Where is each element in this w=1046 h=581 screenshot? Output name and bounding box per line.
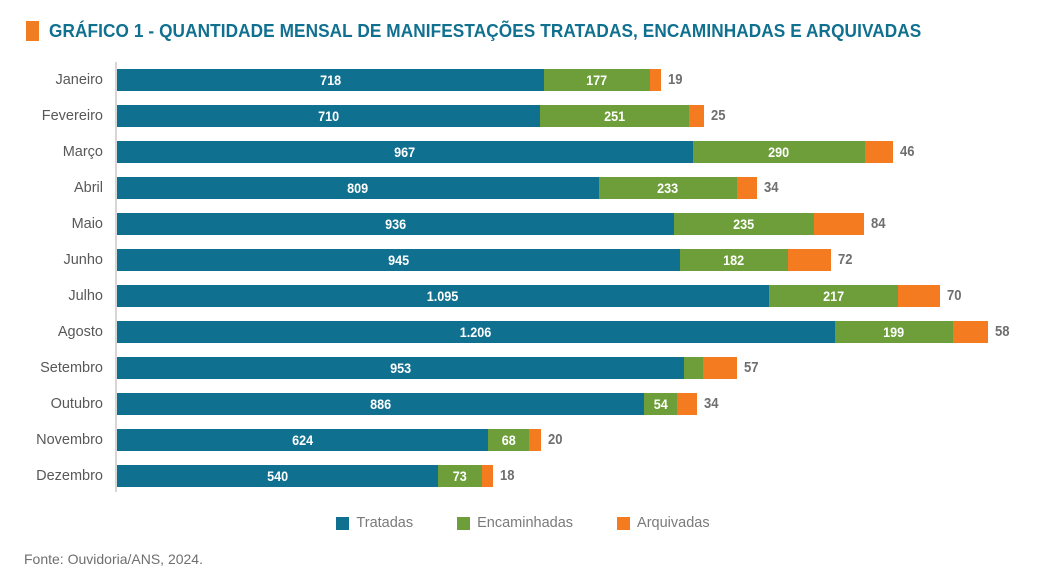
bar-total-label: 34 [704, 397, 719, 412]
legend-swatch-icon [336, 517, 349, 530]
stacked-bar: 96729046 [117, 141, 916, 163]
bar-segment-arquivadas [788, 249, 831, 271]
legend-item[interactable]: Tratadas [336, 515, 413, 531]
bar-chart: Janeiro71817719Fevereiro71025125Março967… [0, 62, 1046, 494]
stacked-bar: 94518272 [117, 249, 854, 271]
chart-title: GRÁFICO 1 - QUANTIDADE MENSAL DE MANIFES… [26, 20, 987, 42]
bar-value-label: 54 [653, 397, 667, 411]
stacked-bar: 93623584 [117, 213, 887, 235]
page-title: GRÁFICO 1 - QUANTIDADE MENSAL DE MANIFES… [49, 20, 921, 42]
bar-value-label: 251 [604, 109, 625, 123]
bar-segment-tratadas: 936 [117, 213, 674, 235]
category-label: Junho [0, 252, 103, 268]
source-note: Fonte: Ouvidoria/ANS, 2024. [24, 551, 203, 567]
bar-value-label: 967 [394, 145, 415, 159]
chart-row: Julho1.09521770 [0, 278, 1046, 314]
legend-swatch-icon [617, 517, 630, 530]
bar-total-label: 25 [711, 109, 726, 124]
category-label: Março [0, 144, 103, 160]
category-label: Dezembro [0, 468, 103, 484]
legend-item[interactable]: Encaminhadas [457, 515, 573, 531]
bar-segment-arquivadas [703, 357, 737, 379]
bar-value-label: 177 [587, 73, 608, 87]
bar-value-label: 217 [823, 289, 844, 303]
bar-segment-encaminhadas: 233 [599, 177, 738, 199]
bar-total-label: 34 [764, 181, 779, 196]
bar-segment-encaminhadas: 235 [674, 213, 814, 235]
bar-segment-tratadas: 540 [117, 465, 438, 487]
bar-segment-tratadas: 953 [117, 357, 684, 379]
bar-segment-arquivadas [529, 429, 541, 451]
bar-segment-arquivadas [865, 141, 892, 163]
category-label: Agosto [0, 324, 103, 340]
bar-value-label: 540 [267, 469, 288, 483]
bar-value-label: 1.095 [427, 289, 459, 303]
bar-total-label: 72 [838, 253, 853, 268]
legend-label: Arquivadas [637, 515, 710, 531]
chart-legend: TratadasEncaminhadasArquivadas [0, 515, 1046, 531]
bar-value-label: 182 [723, 253, 744, 267]
bar-value-label: 235 [734, 217, 755, 231]
bar-segment-encaminhadas: 54 [644, 393, 676, 415]
bar-segment-arquivadas [689, 105, 704, 127]
stacked-bar: 80923334 [117, 177, 781, 199]
chart-row: Agosto1.20619958 [0, 314, 1046, 350]
bar-total-label: 18 [500, 469, 515, 484]
bar-segment-arquivadas [953, 321, 988, 343]
bar-segment-tratadas: 967 [117, 141, 693, 163]
bar-total-label: 58 [995, 325, 1010, 340]
chart-row: Novembro6246820 [0, 422, 1046, 458]
bar-value-label: 953 [390, 361, 411, 375]
bar-segment-tratadas: 624 [117, 429, 488, 451]
bar-segment-tratadas: 1.206 [117, 321, 835, 343]
bar-segment-tratadas: 809 [117, 177, 599, 199]
bar-segment-arquivadas [737, 177, 757, 199]
bar-segment-encaminhadas: 217 [769, 285, 898, 307]
stacked-bar: 71817719 [117, 69, 684, 91]
bar-segment-tratadas: 945 [117, 249, 680, 271]
bar-value-label: 68 [502, 433, 516, 447]
chart-row: Janeiro71817719 [0, 62, 1046, 98]
bar-segment-encaminhadas: 199 [835, 321, 953, 343]
chart-row: Maio93623584 [0, 206, 1046, 242]
stacked-bar: 5407318 [117, 465, 516, 487]
bar-segment-tratadas: 886 [117, 393, 644, 415]
bar-value-label: 945 [388, 253, 409, 267]
bar-segment-encaminhadas: 73 [438, 465, 481, 487]
category-label: Setembro [0, 360, 103, 376]
bar-value-label: 936 [385, 217, 406, 231]
bar-segment-arquivadas [677, 393, 697, 415]
bar-segment-arquivadas [814, 213, 864, 235]
stacked-bar: 71025125 [117, 105, 727, 127]
stacked-bar: 8865434 [117, 393, 720, 415]
chart-rows: Janeiro71817719Fevereiro71025125Março967… [0, 62, 1046, 494]
chart-row: Junho94518272 [0, 242, 1046, 278]
bar-value-label: 290 [768, 145, 789, 159]
bar-total-label: 46 [900, 145, 915, 160]
bar-value-label: 233 [657, 181, 678, 195]
bar-value-label: 1.206 [460, 325, 492, 339]
bar-value-label: 718 [320, 73, 341, 87]
legend-item[interactable]: Arquivadas [617, 515, 710, 531]
category-label: Maio [0, 216, 103, 232]
bar-segment-encaminhadas: 182 [680, 249, 788, 271]
title-marker-icon [26, 21, 39, 41]
bar-segment-arquivadas [650, 69, 661, 91]
bar-segment-encaminhadas: 68 [488, 429, 528, 451]
bar-total-label: 84 [871, 217, 886, 232]
category-label: Novembro [0, 432, 103, 448]
category-label: Janeiro [0, 72, 103, 88]
bar-value-label: 710 [318, 109, 339, 123]
category-label: Outubro [0, 396, 103, 412]
bar-segment-encaminhadas: 290 [693, 141, 866, 163]
stacked-bar: 1.20619958 [117, 321, 1011, 343]
category-label: Julho [0, 288, 103, 304]
bar-total-label: 19 [668, 73, 683, 88]
category-label: Abril [0, 180, 103, 196]
bar-value-label: 73 [453, 469, 467, 483]
legend-label: Encaminhadas [477, 515, 573, 531]
bar-value-label: 624 [292, 433, 313, 447]
stacked-bar: 1.09521770 [117, 285, 963, 307]
bar-total-label: 20 [548, 433, 563, 448]
chart-row: Março96729046 [0, 134, 1046, 170]
stacked-bar: 95357 [117, 357, 760, 379]
chart-row: Abril80923334 [0, 170, 1046, 206]
bar-segment-arquivadas [898, 285, 940, 307]
legend-label: Tratadas [356, 515, 413, 531]
bar-segment-tratadas: 1.095 [117, 285, 769, 307]
bar-segment-arquivadas [482, 465, 493, 487]
bar-segment-encaminhadas: 251 [540, 105, 689, 127]
bar-value-label: 199 [884, 325, 905, 339]
bar-value-label: 886 [370, 397, 391, 411]
bar-segment-encaminhadas [684, 357, 702, 379]
bar-segment-encaminhadas: 177 [544, 69, 649, 91]
chart-row: Setembro95357 [0, 350, 1046, 386]
chart-row: Outubro8865434 [0, 386, 1046, 422]
chart-row: Fevereiro71025125 [0, 98, 1046, 134]
chart-row: Dezembro5407318 [0, 458, 1046, 494]
legend-swatch-icon [457, 517, 470, 530]
bar-total-label: 57 [744, 361, 759, 376]
bar-segment-tratadas: 718 [117, 69, 544, 91]
bar-value-label: 809 [347, 181, 368, 195]
stacked-bar: 6246820 [117, 429, 564, 451]
bar-total-label: 70 [947, 289, 962, 304]
category-label: Fevereiro [0, 108, 103, 124]
bar-segment-tratadas: 710 [117, 105, 540, 127]
